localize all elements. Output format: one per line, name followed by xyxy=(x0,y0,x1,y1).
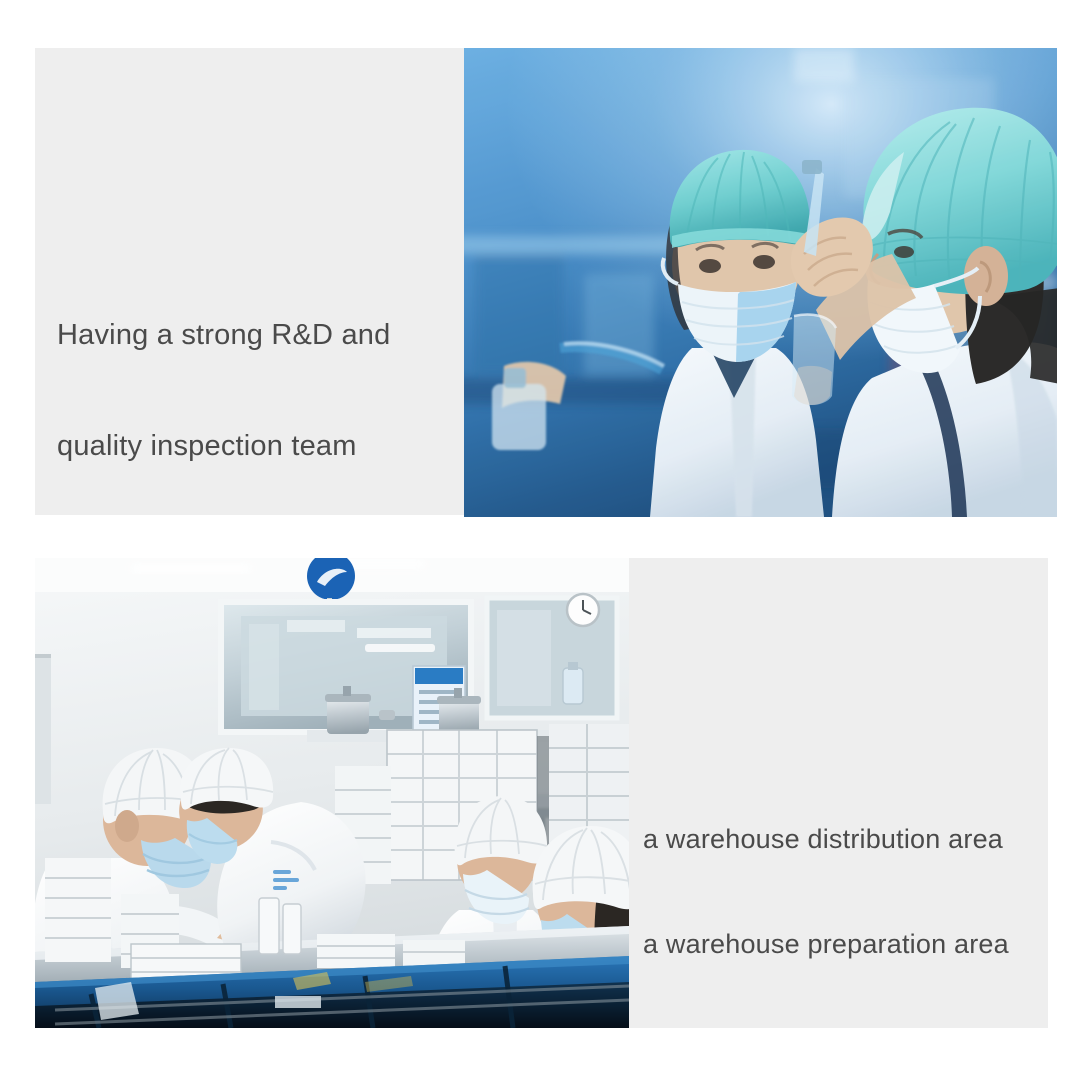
packing-photo-illustration xyxy=(35,558,629,1028)
bottom-caption-line-2: a warehouse preparation area xyxy=(643,927,1043,962)
wall-clock xyxy=(567,594,599,626)
warehouse-packing-photo xyxy=(35,558,629,1028)
lab-quality-inspection-photo xyxy=(464,48,1057,517)
top-caption-line-1: Having a strong R&D and xyxy=(57,317,457,354)
top-caption: Having a strong R&D and quality inspecti… xyxy=(57,243,457,539)
page-canvas: Having a strong R&D and quality inspecti… xyxy=(0,0,1080,1080)
bottom-caption-line-1: a warehouse distribution area xyxy=(643,822,1043,857)
bottom-caption: a warehouse distribution area a warehous… xyxy=(643,752,1043,1032)
top-caption-line-2: quality inspection team xyxy=(57,428,457,465)
lab-photo-illustration xyxy=(464,48,1057,517)
